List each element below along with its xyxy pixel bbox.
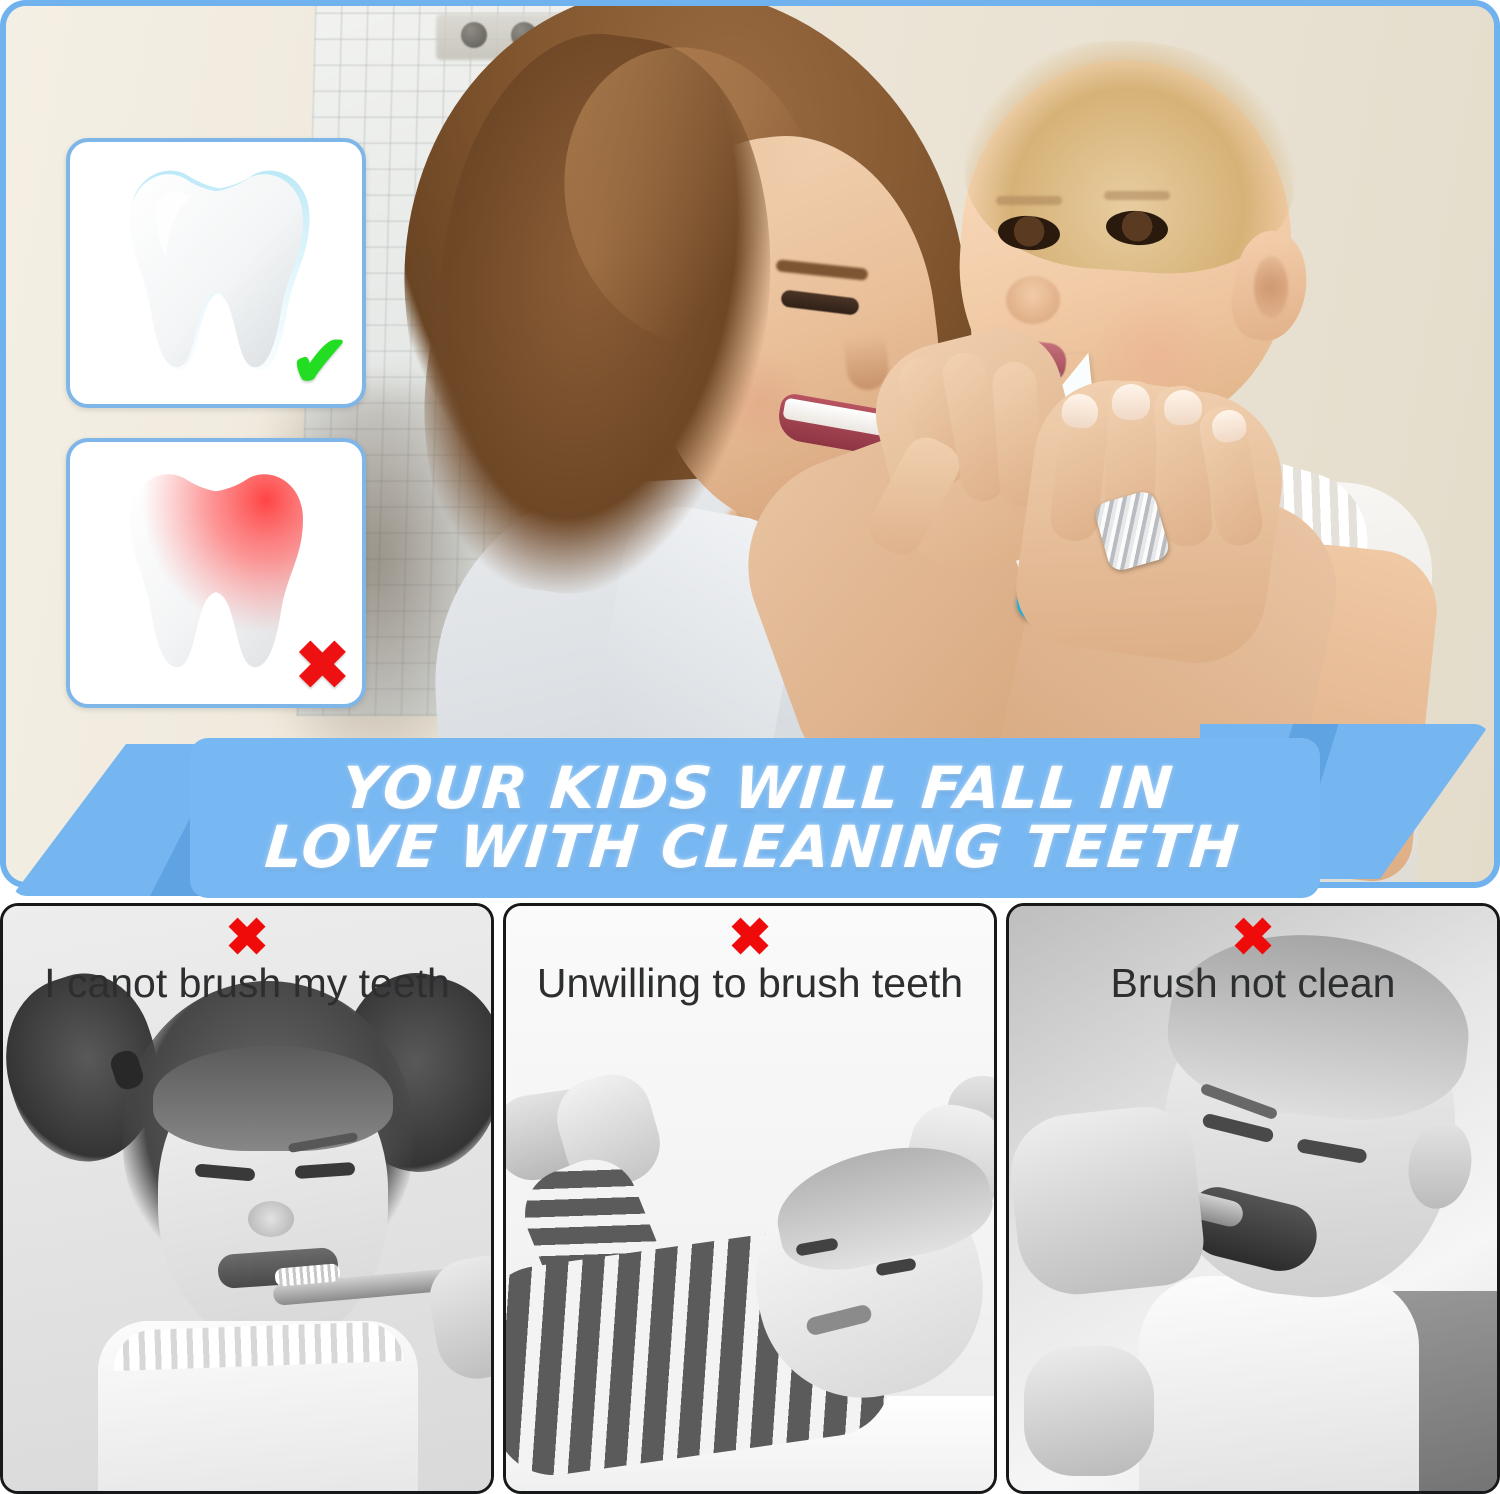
red-cross-icon: ✖: [506, 912, 994, 964]
girl-nose: [248, 1201, 294, 1237]
baby-nose: [1006, 276, 1060, 324]
healthy-tooth-card: ✔: [66, 138, 366, 408]
panel-label: Unwilling to brush teeth: [506, 960, 994, 1007]
problem-panel-cannot-brush: ✖ I canot brush my teeth: [0, 903, 494, 1494]
baby-eyebrow-right: [1104, 191, 1170, 200]
product-infographic: ✔: [0, 0, 1500, 1494]
green-check-icon: ✔: [290, 326, 350, 398]
panel-label: Brush not clean: [1009, 960, 1497, 1007]
baby-eyebrow-left: [996, 196, 1062, 205]
healthy-tooth-icon: [116, 161, 316, 376]
baby-ear-inner: [1254, 256, 1288, 318]
problem-panels: ✖ I canot brush my teeth ✖ Unwi: [0, 903, 1500, 1494]
problem-panel-not-clean: ✖ Brush not clean: [1006, 903, 1500, 1494]
problem-panel-unwilling: ✖ Unwilling to brush teeth: [503, 903, 997, 1494]
red-cross-icon: ✖: [1009, 912, 1497, 964]
fingernail: [1112, 384, 1150, 420]
panel-label: I canot brush my teeth: [3, 960, 491, 1007]
hero-photo: ✔: [0, 0, 1500, 888]
toddler-bib: [1139, 1276, 1419, 1494]
adult-hand: [1006, 1102, 1208, 1300]
red-cross-icon: ✖: [295, 632, 350, 698]
unhealthy-tooth-card: ✖: [66, 438, 366, 708]
toddler-fist: [1024, 1346, 1154, 1476]
inflamed-tooth-icon: [116, 461, 316, 676]
fixture-knob: [461, 22, 487, 48]
red-cross-icon: ✖: [3, 912, 491, 964]
